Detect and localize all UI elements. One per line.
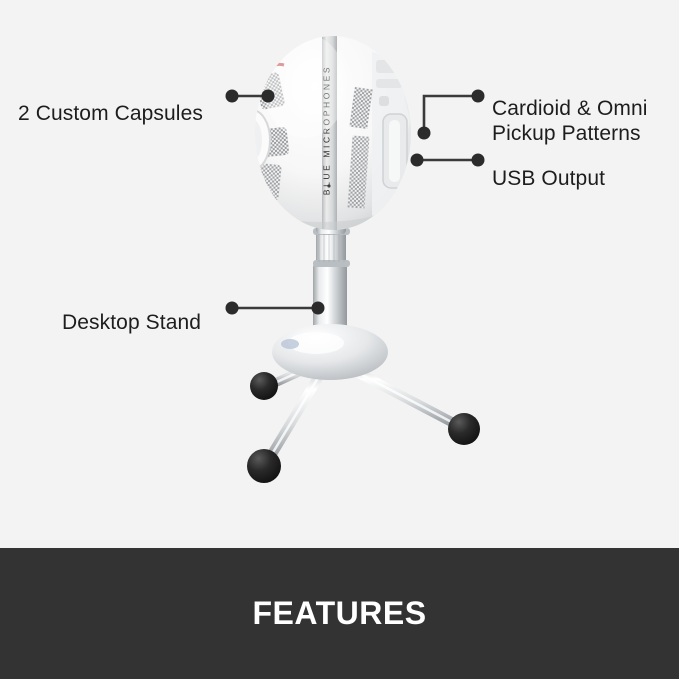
dot-stand-anchor <box>312 302 325 315</box>
dot-capsules-anchor <box>262 90 275 103</box>
microphone-illustration: BLUE MICROPHONES <box>0 0 679 548</box>
dot-cardioid-anchor <box>418 127 431 140</box>
dot-usb-label <box>472 154 485 167</box>
leader-cardioid <box>424 96 478 133</box>
features-banner-title: FEATURES <box>252 595 426 632</box>
microphone-head: BLUE MICROPHONES <box>234 34 411 232</box>
dot-cardioid-label <box>472 90 485 103</box>
dot-stand-label <box>226 302 239 315</box>
callout-label-cardioid: Cardioid & Omni Pickup Patterns <box>492 96 648 146</box>
callout-label-capsules: 2 Custom Capsules <box>18 101 203 126</box>
callout-label-usb: USB Output <box>492 166 605 191</box>
callout-label-stand: Desktop Stand <box>62 310 201 335</box>
stand-hub <box>272 324 388 380</box>
dot-capsules-label <box>226 90 239 103</box>
tripod-feet <box>247 372 480 483</box>
features-banner: FEATURES <box>0 548 679 679</box>
diagram-area: BLUE MICROPHONES <box>0 0 679 548</box>
product-feature-diagram: BLUE MICROPHONES <box>0 0 679 679</box>
dot-usb-anchor <box>411 154 424 167</box>
